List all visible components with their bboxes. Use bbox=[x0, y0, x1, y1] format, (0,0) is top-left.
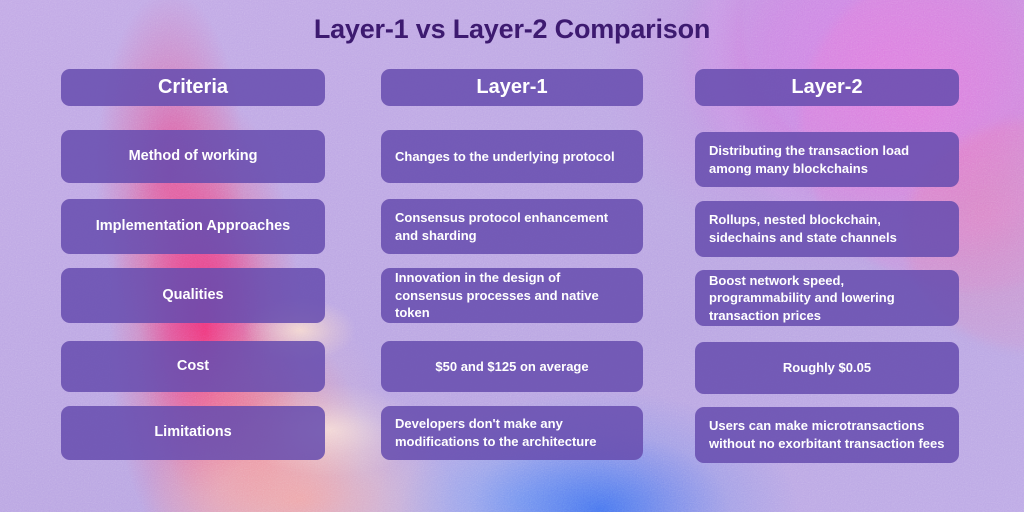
criteria-cell-row-5: Limitations bbox=[61, 406, 325, 460]
column-header-layer1: Layer-1 bbox=[381, 69, 643, 106]
comparison-infographic: Layer-1 vs Layer-2 Comparison Criteria M… bbox=[0, 0, 1024, 512]
column-header-layer2-label: Layer-2 bbox=[791, 76, 862, 99]
criteria-cell-row-2-text: Implementation Approaches bbox=[61, 217, 325, 237]
layer2-cell-row-4-text: Roughly $0.05 bbox=[695, 359, 959, 377]
column-header-layer2: Layer-2 bbox=[695, 69, 959, 106]
criteria-cell-row-5-text: Limitations bbox=[61, 423, 325, 443]
column-layer2: Layer-2 Distributing the transaction loa… bbox=[695, 69, 959, 106]
column-header-criteria-label: Criteria bbox=[158, 76, 228, 99]
criteria-cell-row-1: Method of working bbox=[61, 130, 325, 183]
layer2-cell-row-2: Rollups, nested blockchain, sidechains a… bbox=[695, 201, 959, 257]
layer1-cell-row-1-text: Changes to the underlying protocol bbox=[381, 148, 643, 166]
layer2-cell-row-5-text: Users can make microtransactions without… bbox=[695, 417, 959, 452]
layer2-cell-row-4: Roughly $0.05 bbox=[695, 342, 959, 394]
layer1-cell-row-2: Consensus protocol enhancement and shard… bbox=[381, 199, 643, 254]
column-header-criteria: Criteria bbox=[61, 69, 325, 106]
column-header-layer1-label: Layer-1 bbox=[476, 76, 547, 99]
criteria-cell-row-1-text: Method of working bbox=[61, 147, 325, 167]
layer2-cell-row-1-text: Distributing the transaction load among … bbox=[695, 142, 959, 177]
layer2-cell-row-2-text: Rollups, nested blockchain, sidechains a… bbox=[695, 211, 959, 246]
layer2-cell-row-3-text: Boost network speed, programmability and… bbox=[695, 272, 959, 325]
column-layer1: Layer-1 Changes to the underlying protoc… bbox=[381, 69, 643, 106]
criteria-cell-row-3-text: Qualities bbox=[61, 286, 325, 306]
layer1-cell-row-1: Changes to the underlying protocol bbox=[381, 130, 643, 183]
layer1-cell-row-4-text: $50 and $125 on average bbox=[381, 358, 643, 376]
page-title: Layer-1 vs Layer-2 Comparison bbox=[0, 14, 1024, 45]
layer1-cell-row-4: $50 and $125 on average bbox=[381, 341, 643, 392]
layer2-cell-row-5: Users can make microtransactions without… bbox=[695, 407, 959, 463]
column-criteria: Criteria Method of working Implementatio… bbox=[61, 69, 325, 106]
layer1-cell-row-5: Developers don't make any modifications … bbox=[381, 406, 643, 460]
layer2-cell-row-1: Distributing the transaction load among … bbox=[695, 132, 959, 187]
criteria-cell-row-4: Cost bbox=[61, 341, 325, 392]
layer2-cell-row-3: Boost network speed, programmability and… bbox=[695, 270, 959, 326]
criteria-cell-row-3: Qualities bbox=[61, 268, 325, 323]
layer1-cell-row-3-text: Innovation in the design of consensus pr… bbox=[381, 269, 643, 322]
layer1-cell-row-5-text: Developers don't make any modifications … bbox=[381, 415, 643, 450]
criteria-cell-row-2: Implementation Approaches bbox=[61, 199, 325, 254]
layer1-cell-row-3: Innovation in the design of consensus pr… bbox=[381, 268, 643, 323]
layer1-cell-row-2-text: Consensus protocol enhancement and shard… bbox=[381, 209, 643, 244]
criteria-cell-row-4-text: Cost bbox=[61, 357, 325, 377]
